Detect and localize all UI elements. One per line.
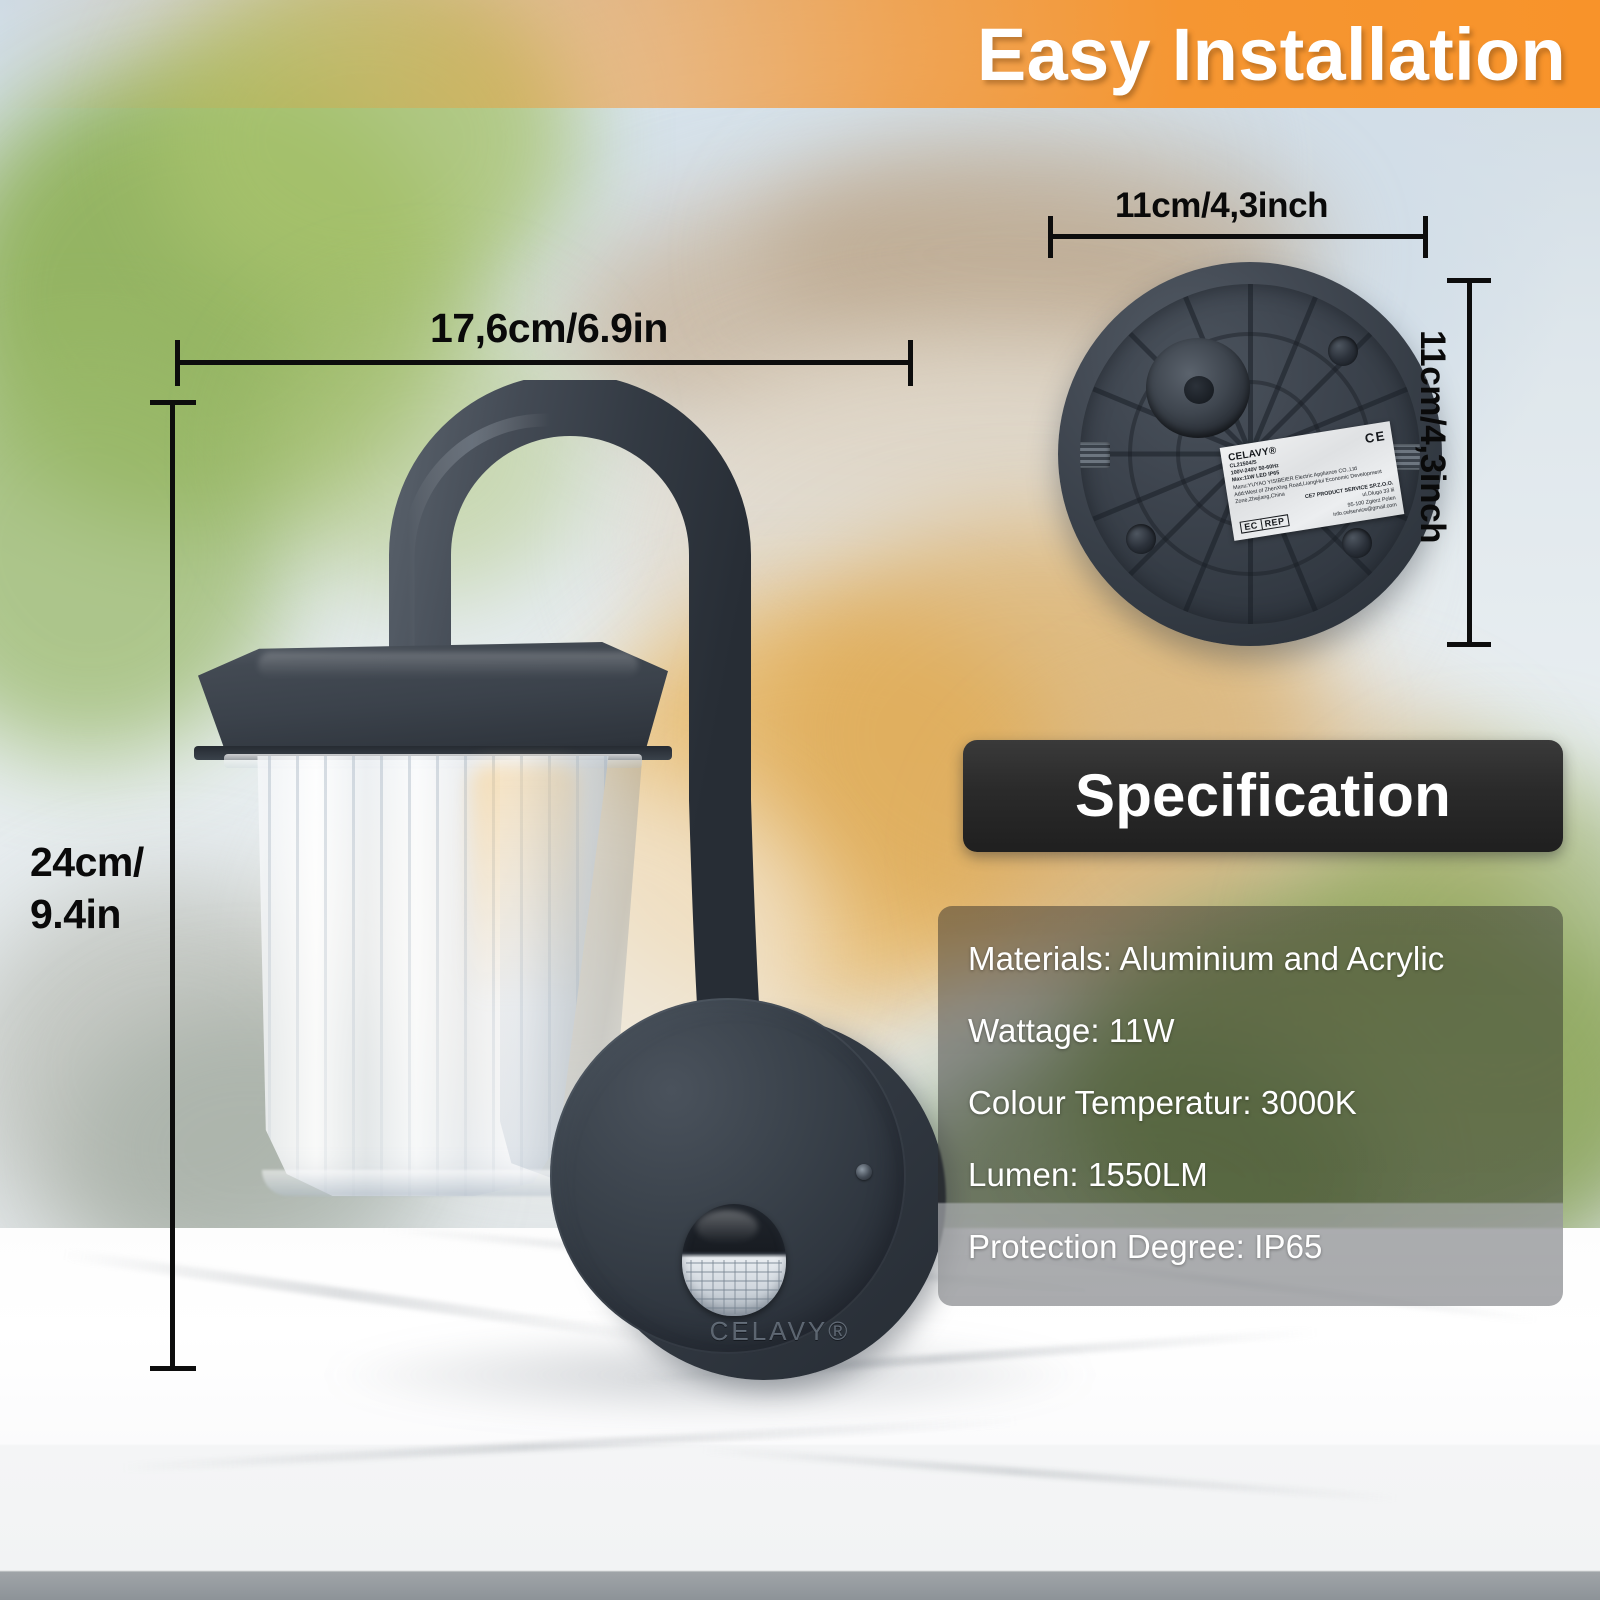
- base-screw-hole: [1342, 528, 1372, 558]
- fresnel-lens: [682, 1258, 786, 1316]
- base-screw-hole: [1126, 524, 1156, 554]
- pir-motion-sensor: [682, 1204, 786, 1316]
- dimension-tick: [1048, 216, 1053, 258]
- dimension-label-lamp-height: 24cm/ 9.4in: [30, 836, 144, 940]
- cap-highlight: [258, 652, 638, 678]
- ec-rep-badge: ECREP: [1239, 514, 1289, 533]
- dimension-line-base-height: [1467, 278, 1472, 646]
- base-inner-face: CELAVY® CE CL21504/S 100V-240V 50-60Hz M…: [1080, 284, 1420, 624]
- dimension-tick: [1447, 642, 1491, 647]
- specification-item: Colour Temperatur: 3000K: [968, 1084, 1533, 1122]
- dimension-tick: [175, 340, 180, 386]
- banner-title: Easy Installation: [977, 6, 1566, 104]
- dimension-tick: [1423, 216, 1428, 258]
- fresnel-segment: [712, 1260, 714, 1314]
- fresnel-segment: [756, 1260, 758, 1314]
- base-terminal-left: [1080, 442, 1110, 468]
- diffuser-rib: [324, 756, 327, 1196]
- diffuser-rib: [408, 756, 411, 1196]
- base-screw-hole: [1328, 336, 1358, 366]
- height-line-2: 9.4in: [30, 891, 121, 937]
- fresnel-segment: [701, 1260, 703, 1314]
- specification-header: Specification: [963, 740, 1563, 852]
- specification-item: Lumen: 1550LM: [968, 1156, 1533, 1194]
- dimension-line-lamp-height: [170, 400, 175, 1370]
- fresnel-segment: [778, 1260, 780, 1314]
- specification-title: Specification: [1075, 766, 1451, 826]
- specification-item: Materials: Aluminium and Acrylic: [968, 940, 1533, 978]
- dimension-line-lamp-width: [175, 360, 913, 365]
- diffuser-rib: [268, 756, 271, 1196]
- dimension-label-lamp-width: 17,6cm/6.9in: [430, 305, 668, 352]
- dimension-label-base-width: 11cm/4,3inch: [1115, 186, 1328, 226]
- diffuser-rib: [436, 756, 439, 1196]
- specification-panel: Materials: Aluminium and AcrylicWattage:…: [938, 906, 1563, 1306]
- rep-text: REP: [1260, 516, 1285, 530]
- fresnel-segment: [745, 1260, 747, 1314]
- fresnel-segment: [734, 1260, 736, 1314]
- dimension-tick: [150, 400, 196, 405]
- dimension-label-base-height: 11cm/4,3inch: [1412, 330, 1452, 543]
- diffuser-rib: [464, 756, 467, 1196]
- fresnel-segment: [690, 1260, 692, 1314]
- sensor-gloss-highlight: [696, 1210, 758, 1244]
- diffuser-bottom-rim: [262, 1170, 582, 1196]
- specification-list: Materials: Aluminium and AcrylicWattage:…: [938, 906, 1563, 1266]
- dimension-tick: [908, 340, 913, 386]
- dimension-tick: [1447, 278, 1491, 283]
- specification-item: Protection Degree: IP65: [968, 1228, 1533, 1266]
- dimension-tick: [150, 1366, 196, 1371]
- disc-side-screw: [856, 1164, 872, 1180]
- lantern-top-cap: [198, 642, 668, 754]
- specification-item: Wattage: 11W: [968, 1012, 1533, 1050]
- dimension-line-base-width: [1048, 234, 1428, 239]
- fresnel-segment: [767, 1260, 769, 1314]
- wall-lamp-product: CELAVY®: [130, 380, 970, 1400]
- brand-emboss: CELAVY®: [690, 1316, 870, 1347]
- diffuser-rib: [380, 756, 383, 1196]
- diffuser-rib: [296, 756, 299, 1196]
- infographic-canvas: CELAVY® CELAVY® CE CL21504/S 100V-240V 5…: [0, 0, 1600, 1600]
- ec-text: EC: [1244, 520, 1259, 532]
- diffuser-rib: [352, 756, 355, 1196]
- cable-gland-hole: [1184, 376, 1214, 404]
- height-line-1: 24cm/: [30, 839, 144, 885]
- fresnel-segment: [723, 1260, 725, 1314]
- header-banner: Easy Installation: [0, 0, 1600, 108]
- diffuser-rib: [240, 756, 243, 1196]
- mounting-base-plate: CELAVY® CE CL21504/S 100V-240V 50-60Hz M…: [1058, 262, 1442, 646]
